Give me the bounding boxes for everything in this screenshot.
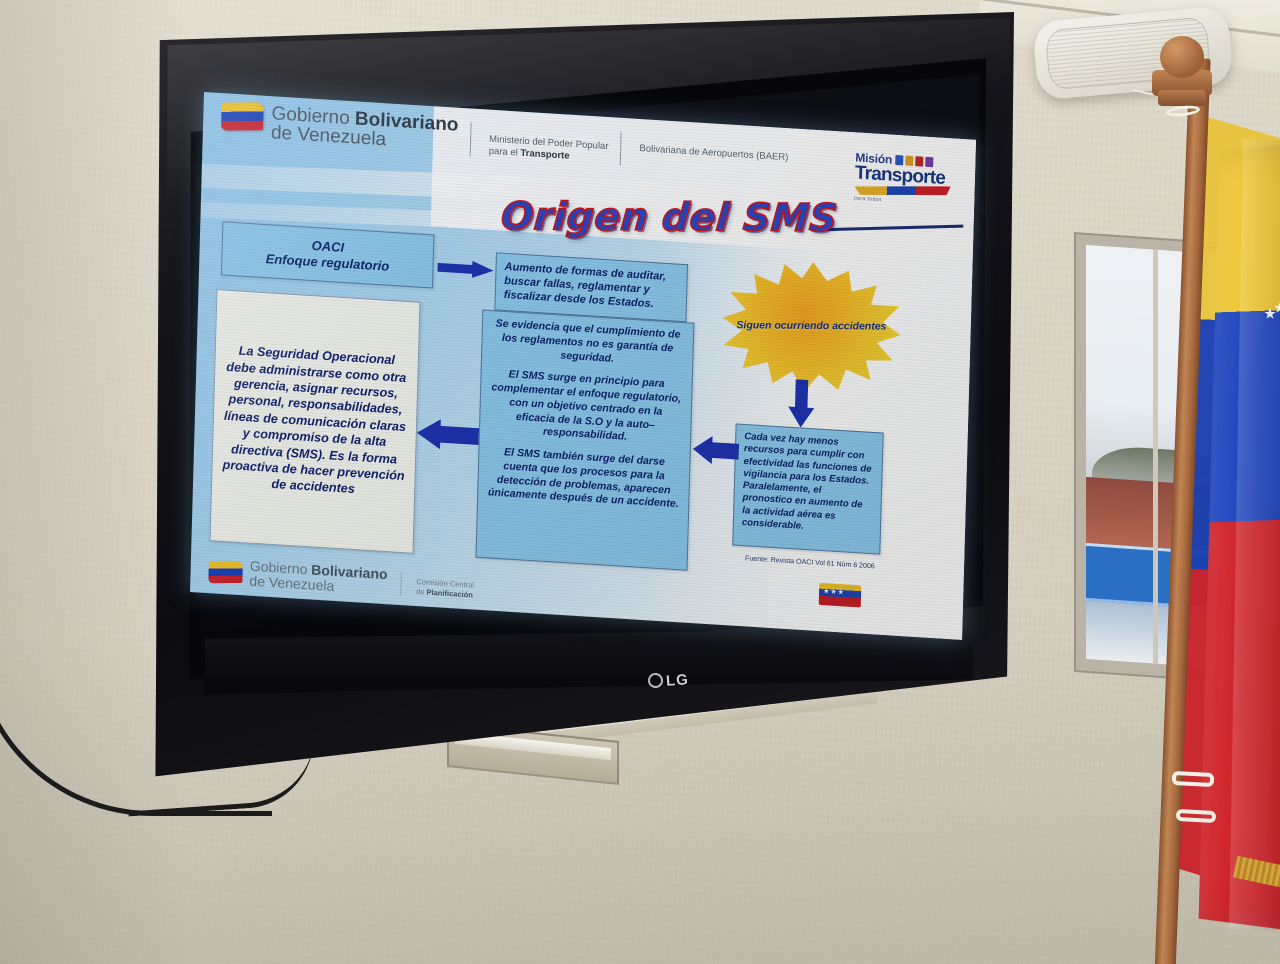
- photo-scene: Transport LG Gobierno Bolivariano de Ven…: [0, 0, 1280, 964]
- box-oaci-content: OACI Enfoque regulatorio: [265, 235, 389, 274]
- arrow-left-icon-1: [416, 418, 479, 452]
- flag-group: [1086, 10, 1280, 964]
- commission-plain: de: [416, 587, 427, 597]
- presentation-slide: Gobierno Bolivariano de Venezuela Minist…: [190, 92, 976, 640]
- flag-pole-tie-mid: [1172, 771, 1215, 787]
- agency-label: Bolivariana de Aeropuertos (BAER): [639, 143, 788, 164]
- box-evidencia-sms: Se evidencia que el cumplimiento de los …: [475, 310, 694, 571]
- ministry-plain: para el: [489, 146, 521, 159]
- flag-pole-tie-low: [1176, 809, 1217, 823]
- mision-transporte-logo: Misión Transporte para todos: [854, 150, 963, 208]
- flag-stars-icon: [1262, 280, 1280, 326]
- evidencia-paragraph-3: El SMS también surge del darse cuenta qu…: [486, 445, 682, 512]
- ministry-bold: Transporte: [520, 148, 569, 162]
- box-oaci: OACI Enfoque regulatorio: [221, 221, 435, 288]
- government-brand: Gobierno Bolivariano de Venezuela: [271, 104, 459, 154]
- commission-bold: Planificación: [426, 587, 473, 599]
- slide-title: Origen del SMS: [500, 194, 840, 240]
- slide-footer: Gobierno Bolivariano de Venezuela Comisi…: [208, 557, 474, 602]
- footer-venezuela-flag-icon: [208, 561, 243, 583]
- evidencia-paragraph-1: Se evidencia que el cumplimiento de los …: [490, 317, 685, 370]
- flag-pole-finial: [1160, 36, 1204, 78]
- arrow-right-icon: [437, 259, 493, 279]
- evidencia-paragraph-2: El SMS surge en principio para complemen…: [488, 367, 684, 448]
- footer-government-brand: Gobierno Bolivariano de Venezuela: [249, 559, 388, 596]
- box-cada-vez: Cada vez hay menos recursos para cumplir…: [732, 423, 883, 554]
- footer-divider: [400, 572, 402, 596]
- footer-commission-label: Comisión Central de Planificación: [416, 577, 474, 600]
- presentation-slide-container: Gobierno Bolivariano de Venezuela Minist…: [188, 92, 976, 696]
- venezuela-flag-icon: [221, 102, 264, 130]
- venezuela-badge-stars-icon: ★★★: [823, 587, 845, 596]
- header-divider-2: [620, 132, 622, 166]
- box-seguridad-operacional: La Seguridad Operacional debe administra…: [209, 289, 420, 554]
- box-seguridad-text: La Seguridad Operacional debe administra…: [220, 342, 410, 501]
- flag-pole-collar-lower: [1158, 90, 1206, 106]
- starburst-label: Siguen ocurriendo accidentes: [736, 320, 886, 335]
- header-divider-1: [470, 123, 472, 157]
